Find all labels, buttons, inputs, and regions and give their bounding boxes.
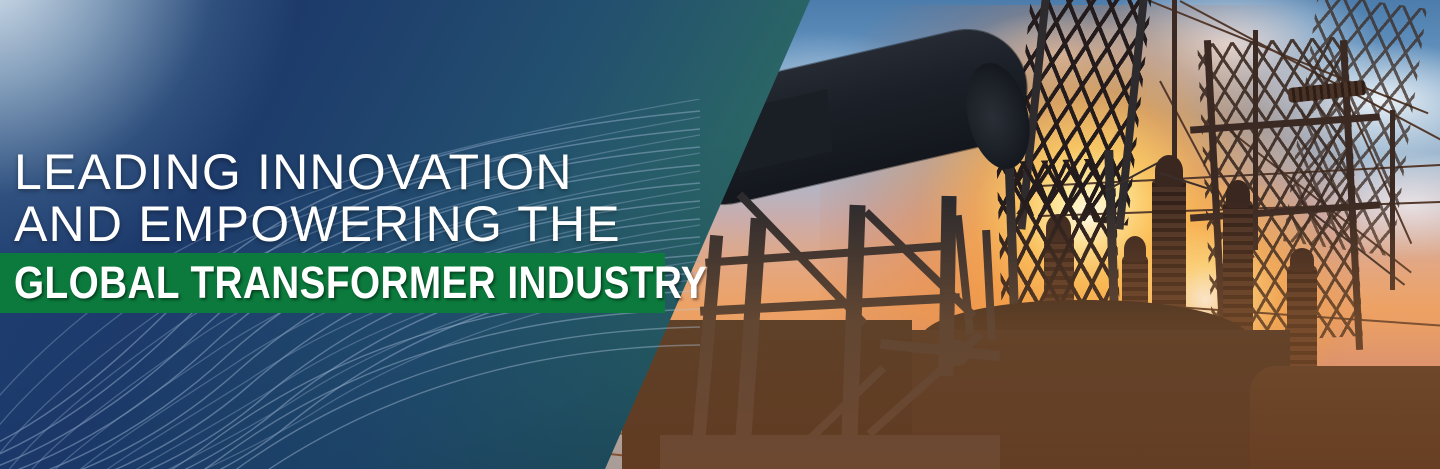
bushing-cap xyxy=(1124,236,1146,262)
headline-line-1: LEADING INNOVATION xyxy=(14,146,621,198)
headline-line-2: AND EMPOWERING THE xyxy=(14,198,621,250)
bushing-cap xyxy=(1290,248,1314,272)
hero-banner: LEADING INNOVATION AND EMPOWERING THE GL… xyxy=(0,0,1440,469)
transformer-radiator xyxy=(1250,366,1440,469)
bushing-insulator xyxy=(1287,265,1317,375)
highlight-text: GLOBAL TRANSFORMER INDUSTRY xyxy=(14,258,707,308)
headline-block: LEADING INNOVATION AND EMPOWERING THE xyxy=(14,146,621,250)
base-plate xyxy=(660,435,1000,469)
bushing-cap xyxy=(1155,155,1183,187)
bushing-cap xyxy=(1226,180,1250,208)
